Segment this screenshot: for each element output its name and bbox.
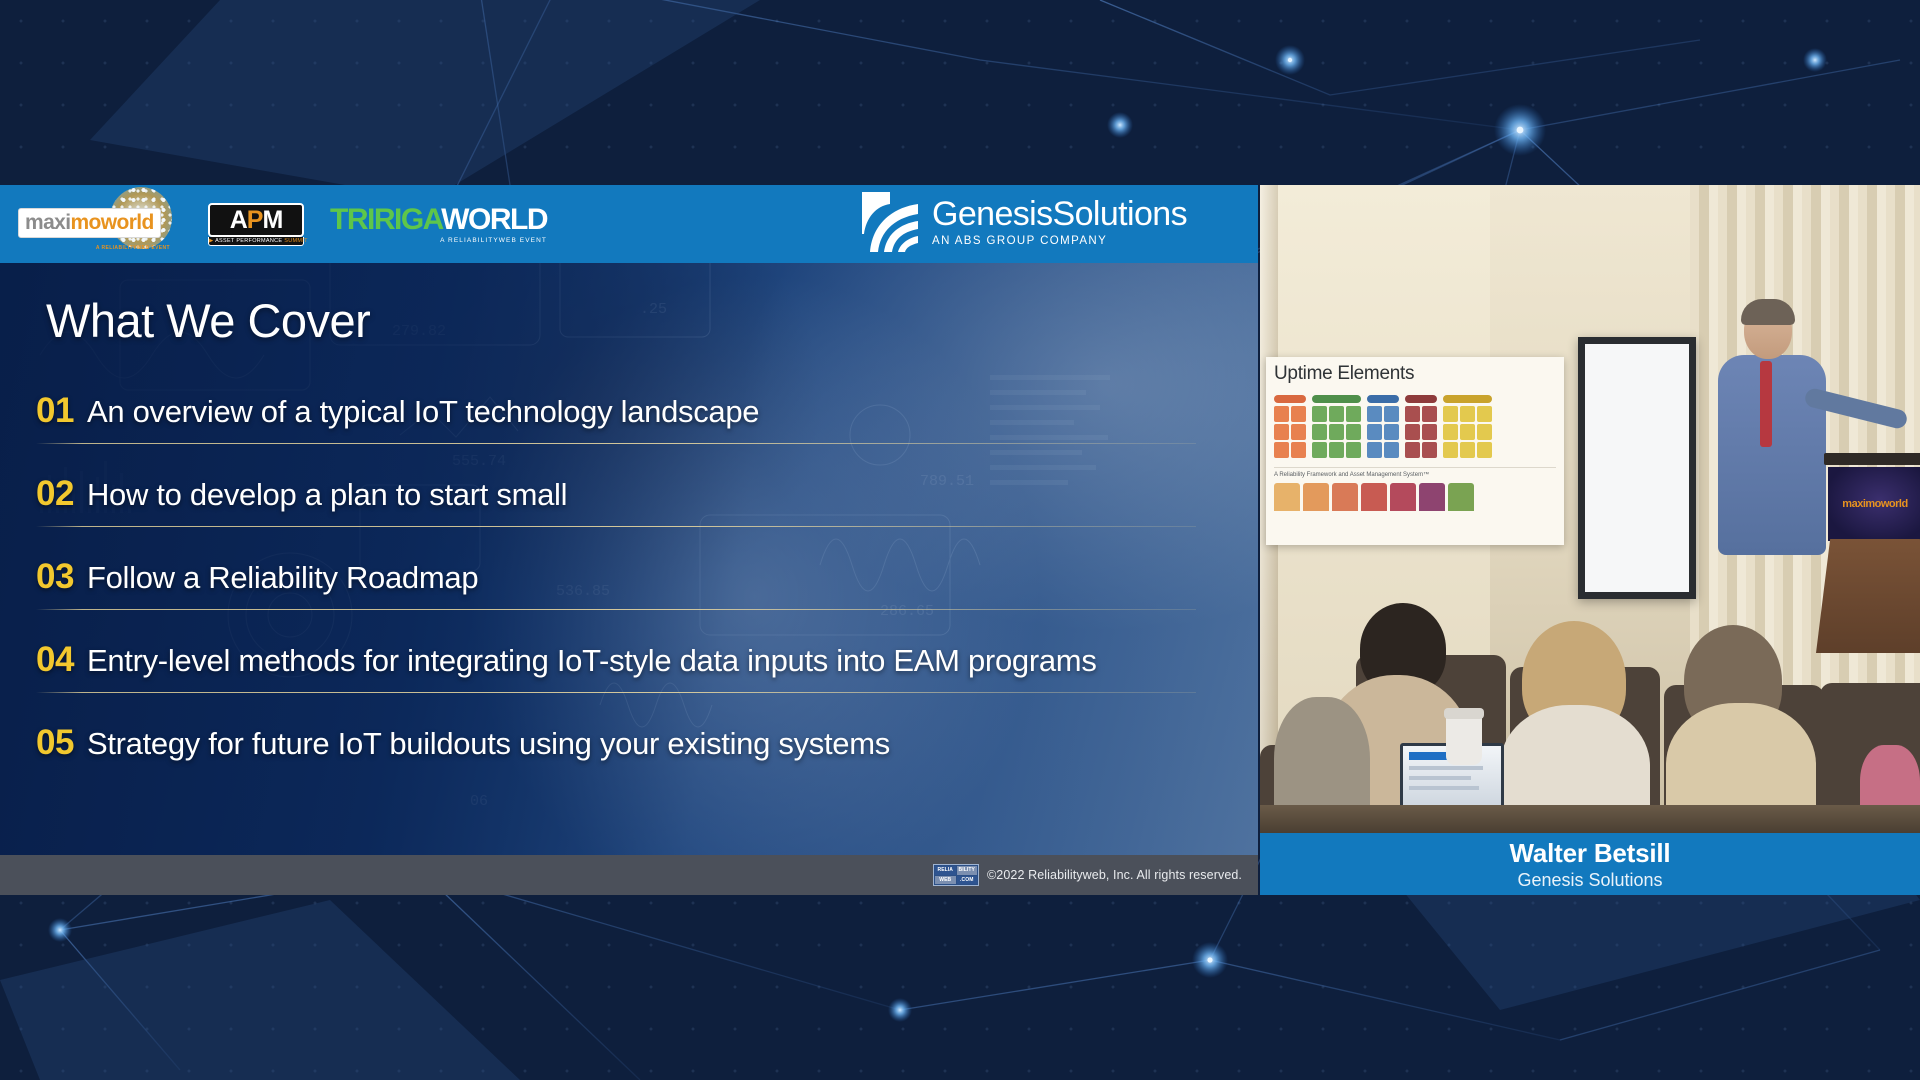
agenda-divider: [36, 692, 1196, 693]
presenter-torso: [1718, 355, 1826, 555]
tririgaworld-word-white: WORLD: [441, 203, 547, 236]
poster-column: [1405, 395, 1437, 458]
whiteboard: [1578, 337, 1696, 599]
poster-column: [1312, 395, 1361, 458]
poster-lifecycle-row: [1274, 483, 1556, 511]
agenda-item-number: 02: [36, 474, 74, 514]
speaker-organization: Genesis Solutions: [1517, 870, 1662, 891]
event-logo-group: maximoworld A RELIABILITYWEB EVENT APM ▶…: [0, 189, 547, 259]
agenda-divider: [36, 609, 1196, 610]
genesis-tagline: AN ABS GROUP COMPANY: [932, 235, 1187, 247]
conference-room-scene: Uptime Elements: [1260, 185, 1920, 833]
agenda-item-number: 03: [36, 557, 74, 597]
agenda-item: 04 Entry-level methods for integrating I…: [36, 640, 1222, 723]
tririgaworld-tagline: A RELIABILITYWEB EVENT: [330, 237, 547, 244]
apm-letter-a: A: [230, 206, 247, 234]
speaker-name: Walter Betsill: [1510, 838, 1671, 869]
agenda-item: 01 An overview of a typical IoT technolo…: [36, 391, 1222, 474]
presenter-hair: [1741, 299, 1795, 325]
reliabilityweb-logo: RELIA BILITY WEB .COM: [933, 864, 979, 886]
tririgaworld-wordmark: TRIRIGAWORLD: [330, 205, 547, 235]
maximoworld-tagline: A RELIABILITYWEB EVENT: [96, 245, 170, 251]
agenda-item-number: 01: [36, 391, 74, 431]
slide-content: What We Cover 01 An overview of a typica…: [0, 263, 1258, 895]
agenda-item-text: How to develop a plan to start small: [87, 477, 567, 513]
slide-panel: 279.82555.74 .25536.85 286.65789.51 73.7…: [0, 185, 1258, 895]
tririgaworld-logo: TRIRIGAWORLD A RELIABILITYWEB EVENT: [330, 205, 547, 244]
podium-logo-text: maximoworld: [1842, 498, 1907, 510]
agenda-item-text: Entry-level methods for integrating IoT-…: [87, 643, 1097, 679]
poster-column: [1443, 395, 1492, 458]
apm-letter-m: M: [262, 206, 282, 234]
podium-top: [1824, 453, 1920, 465]
presenter-badge-lanyard: [1760, 361, 1772, 447]
copyright-text: ©2022 Reliabilityweb, Inc. All rights re…: [987, 868, 1242, 882]
apm-tagline-arrow-icon: ▶: [209, 238, 214, 244]
agenda-item-number: 04: [36, 640, 74, 680]
maximoworld-word-a: maxi: [25, 211, 70, 234]
maximoworld-word-b: moworld: [70, 211, 153, 234]
slide-header-bar: maximoworld A RELIABILITYWEB EVENT APM ▶…: [0, 185, 1258, 263]
slide-footer-bar: RELIA BILITY WEB .COM ©2022 Reliabilityw…: [0, 855, 1258, 895]
agenda-item-number: 05: [36, 723, 74, 763]
agenda-divider: [36, 443, 1196, 444]
poster-title: Uptime Elements: [1274, 363, 1556, 385]
agenda-item-text: An overview of a typical IoT technology …: [87, 394, 759, 430]
table-surface: [1260, 805, 1920, 833]
speaker-nameplate: Walter Betsill Genesis Solutions: [1260, 833, 1920, 895]
poster-column: [1274, 395, 1306, 458]
agenda-item-text: Follow a Reliability Roadmap: [87, 560, 478, 596]
apm-letter-p: P: [247, 206, 263, 234]
apm-logo: APM ▶ ASSET PERFORMANCE SUMMIT: [208, 203, 304, 246]
agenda-list: 01 An overview of a typical IoT technolo…: [36, 391, 1222, 785]
maximoworld-logo: maximoworld A RELIABILITYWEB EVENT: [14, 189, 182, 259]
genesis-name: GenesisSolutions: [932, 197, 1187, 231]
poster-element-grid: [1274, 395, 1556, 458]
apm-tagline: ▶ ASSET PERFORMANCE SUMMIT: [208, 237, 304, 246]
poster-subtitle: A Reliability Framework and Asset Manage…: [1274, 467, 1556, 478]
agenda-divider: [36, 526, 1196, 527]
slide-title: What We Cover: [46, 293, 370, 348]
apm-tagline-b: SUMMIT: [284, 238, 308, 244]
coffee-cup: [1446, 713, 1482, 765]
presentation-stage: 279.82555.74 .25536.85 286.65789.51 73.7…: [0, 185, 1920, 895]
uptime-elements-poster: Uptime Elements: [1266, 357, 1564, 545]
reliabilityweb-top-left: RELIA: [935, 866, 956, 875]
agenda-item: 05 Strategy for future IoT buildouts usi…: [36, 723, 1222, 785]
poster-column: [1367, 395, 1399, 458]
agenda-item: 02 How to develop a plan to start small: [36, 474, 1222, 557]
podium-screen: maximoworld: [1828, 467, 1920, 541]
agenda-item-text: Strategy for future IoT buildouts using …: [87, 726, 890, 762]
speaker-video-feed[interactable]: Uptime Elements: [1260, 185, 1920, 895]
tririgaworld-word-green: TRIRIGA: [330, 203, 441, 236]
genesis-wave-icon: [860, 190, 922, 254]
podium-body: [1816, 539, 1920, 653]
podium: maximoworld: [1816, 453, 1920, 653]
reliabilityweb-bottom-left: WEB: [935, 876, 956, 885]
reliabilityweb-bottom-right: .COM: [957, 876, 978, 885]
maximoworld-wordmark: maximoworld: [18, 208, 161, 238]
apm-wordmark: APM: [208, 203, 304, 237]
apm-tagline-a: ASSET PERFORMANCE: [215, 238, 282, 244]
reliabilityweb-top-right: BILITY: [957, 866, 978, 875]
genesis-solutions-logo: GenesisSolutions AN ABS GROUP COMPANY: [860, 190, 1187, 254]
agenda-item: 03 Follow a Reliability Roadmap: [36, 557, 1222, 640]
